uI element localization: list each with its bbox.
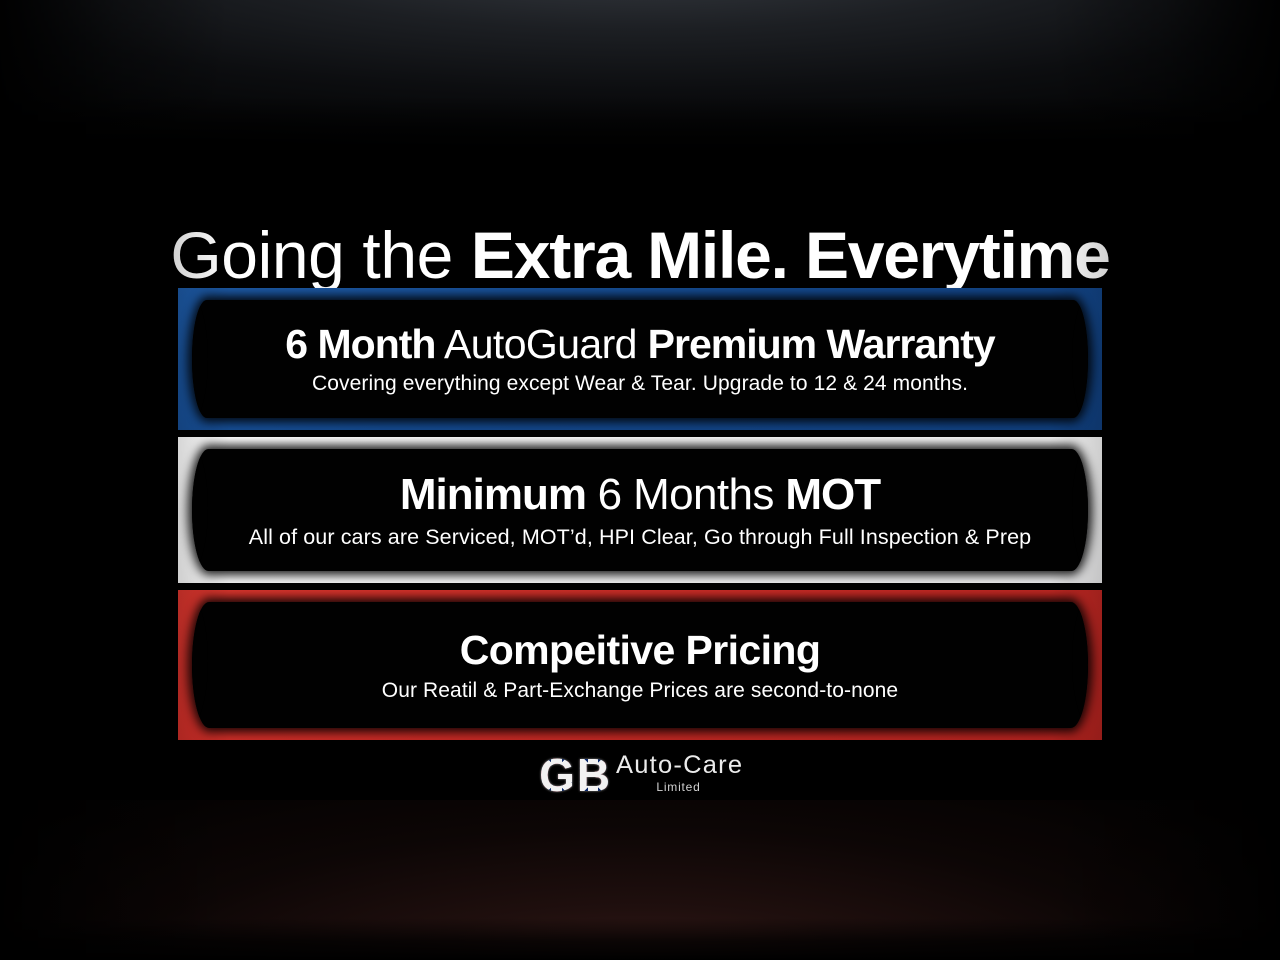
page-title: Going the Extra Mile. Everytime	[0, 212, 1280, 298]
banner-title-warranty: 6 Month AutoGuard Premium Warranty	[192, 319, 1088, 369]
feature-banner-warranty: 6 Month AutoGuard Premium Warranty Cover…	[178, 288, 1102, 430]
feature-banner-mot: Minimum 6 Months MOT All of our cars are…	[178, 437, 1102, 583]
banner-plate-pricing: Compeitive Pricing Our Reatil & Part-Exc…	[192, 602, 1088, 728]
banner-subtitle-warranty: Covering everything except Wear & Tear. …	[192, 369, 1088, 399]
banner-content-warranty: 6 Month AutoGuard Premium Warranty Cover…	[192, 319, 1088, 399]
banner-title-pricing: Compeitive Pricing	[192, 624, 1088, 676]
company-logo: G B Auto-Care Limited	[0, 752, 1280, 798]
logo-company-suffix: Limited	[656, 779, 700, 795]
banner-title-lead-mot: Minimum	[400, 470, 586, 519]
banner-title-mot: Minimum 6 Months MOT	[192, 468, 1088, 522]
banner-title-mid-mot: 6 Months	[586, 470, 785, 519]
headline-bold-text: Extra Mile. Everytime	[471, 218, 1110, 292]
banner-frame-blue: 6 Month AutoGuard Premium Warranty Cover…	[178, 288, 1102, 430]
banner-plate-warranty: 6 Month AutoGuard Premium Warranty Cover…	[192, 300, 1088, 418]
banner-frame-white: Minimum 6 Months MOT All of our cars are…	[178, 437, 1102, 583]
banner-content-mot: Minimum 6 Months MOT All of our cars are…	[192, 468, 1088, 552]
background-bottom-cap	[0, 918, 1280, 960]
promo-banner-canvas: Going the Extra Mile. Everytime 6 Month …	[0, 0, 1280, 960]
banner-subtitle-mot: All of our cars are Serviced, MOT’d, HPI…	[192, 522, 1088, 552]
logo-company-name: Auto-Care	[616, 753, 743, 778]
union-jack-letter-g-icon: G	[539, 752, 574, 798]
headline-light-text: Going the	[170, 218, 471, 292]
union-jack-letter-b-icon: B	[577, 752, 609, 798]
banner-content-pricing: Compeitive Pricing Our Reatil & Part-Exc…	[192, 624, 1088, 706]
banner-title-lead-warranty: 6 Month	[285, 321, 435, 367]
feature-banner-pricing: Compeitive Pricing Our Reatil & Part-Exc…	[178, 590, 1102, 740]
banner-frame-red: Compeitive Pricing Our Reatil & Part-Exc…	[178, 590, 1102, 740]
feature-banner-list: 6 Month AutoGuard Premium Warranty Cover…	[178, 288, 1102, 740]
banner-title-tail-mot: MOT	[785, 470, 880, 519]
background-top-fade	[0, 96, 1280, 166]
banner-title-mid-warranty: AutoGuard	[435, 321, 647, 367]
banner-subtitle-pricing: Our Reatil & Part-Exchange Prices are se…	[192, 676, 1088, 706]
banner-plate-mot: Minimum 6 Months MOT All of our cars are…	[192, 449, 1088, 571]
logo-monogram: G B	[539, 752, 609, 798]
banner-title-tail-warranty: Premium Warranty	[648, 321, 995, 367]
logo-wordmark: Auto-Care Limited	[616, 753, 741, 797]
